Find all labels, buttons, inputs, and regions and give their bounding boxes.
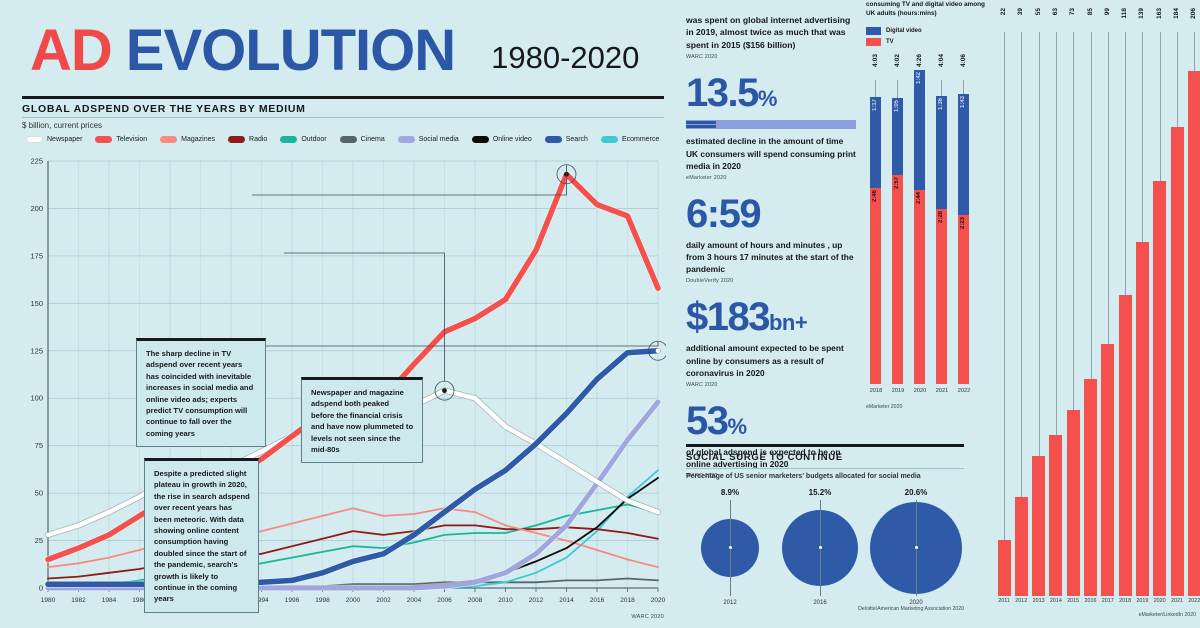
stacked-bar-segment-tv: 2:23 — [958, 215, 969, 384]
legend-item-cinema: Cinema — [340, 136, 385, 143]
y-axis-tick-label: 175 — [30, 251, 43, 260]
bubble-year-label: 2016 — [790, 600, 850, 606]
legend-swatch-icon — [472, 136, 489, 143]
main-line-chart: 0255075100125150175200225198019821984198… — [22, 155, 666, 610]
title-year-range: 1980-2020 — [491, 40, 639, 76]
right-bar-value-label: 73 — [1069, 8, 1076, 15]
right-bar-column: 85 — [1083, 8, 1099, 596]
right-bar-column: 39 — [1013, 8, 1029, 596]
stacked-bar-value-digital-video: 1:17 — [872, 99, 878, 111]
y-axis-tick-label: 100 — [30, 394, 43, 403]
stat-number: 53% — [686, 402, 856, 440]
legend-item-ecommerce: Ecommerce — [601, 136, 659, 143]
stacked-bar-value-tv: 2:23 — [960, 217, 966, 229]
stacked-bar-total-label: 4:03 — [872, 54, 879, 67]
right-bar-x-axis-label: 2022 — [1184, 598, 1200, 604]
right-bar-stem — [1004, 32, 1005, 540]
stacked-bar-value-digital-video: 1:43 — [960, 96, 966, 108]
section-title: GLOBAL ADSPEND OVER THE YEARS BY MEDIUM — [22, 103, 306, 115]
legend-label: Newspaper — [47, 136, 82, 143]
stacked-legend-label: Digital video — [886, 28, 922, 34]
legend-swatch-icon — [228, 136, 245, 143]
right-bar-value-label: 99 — [1104, 8, 1111, 15]
stat-source: WARC 2020 — [686, 382, 856, 388]
right-bar-value-label: 163 — [1156, 8, 1163, 19]
legend-swatch-icon — [160, 136, 177, 143]
stat-source: eMarketer 2020 — [686, 175, 856, 181]
right-bar-stem — [1160, 32, 1161, 181]
y-axis-tick-label: 25 — [35, 536, 43, 545]
right-bar — [1171, 127, 1184, 596]
legend-swatch-icon — [95, 136, 112, 143]
stacked-bar-value-tv: 2:44 — [916, 192, 922, 204]
annotation-dot-newspaper-peak — [442, 388, 447, 393]
section-rule-thin — [22, 117, 664, 118]
stacked-bar-stem — [897, 80, 898, 99]
stacked-x-axis-label: 2019 — [887, 388, 909, 394]
x-axis-tick-label: 2004 — [407, 597, 422, 604]
stacked-x-axis-label: 2020 — [909, 388, 931, 394]
right-bar-chart: 22395563738599118139163184206 2011201220… — [988, 0, 1200, 628]
right-bar — [1101, 344, 1114, 596]
stat-lead-text: was spent on global internet advertising… — [686, 14, 856, 51]
stacked-bar-total-label: 4:02 — [894, 54, 901, 67]
right-bar-stem — [1091, 32, 1092, 379]
stat-source: DoubleVerify 2020 — [686, 278, 856, 284]
x-axis-tick-label: 2002 — [376, 597, 391, 604]
right-bar-plot-area: 22395563738599118139163184206 — [988, 8, 1200, 596]
stat-number-value: 13.5 — [686, 71, 758, 115]
legend-label: Radio — [249, 136, 267, 143]
social-source: Deloitte/American Marketing Association … — [858, 606, 964, 612]
legend-swatch-icon — [601, 136, 618, 143]
bubble-value-label: 8.9% — [700, 488, 760, 497]
bubble-center-dot — [729, 546, 732, 549]
social-surge-section: SOCIAL SURGE TO CONTINUE Percentage of U… — [686, 444, 968, 614]
social-title: SOCIAL SURGE TO CONTINUE — [686, 452, 968, 463]
right-bar-stem — [1073, 32, 1074, 410]
stacked-bar-column: 4:031:172:46 — [870, 54, 881, 384]
right-bar — [1084, 379, 1097, 596]
stat-number-unit: bn+ — [769, 310, 807, 335]
right-bar-value-label: 55 — [1035, 8, 1042, 15]
right-bar-value-label: 184 — [1173, 8, 1180, 19]
stacked-x-axis: 20182019202020212022 — [866, 388, 986, 400]
right-bar — [1015, 497, 1028, 596]
stat-description: estimated decline in the amount of time … — [686, 135, 856, 172]
stat-description: daily amount of hours and minutes , up f… — [686, 239, 856, 276]
stacked-bar-segment-tv: 2:44 — [914, 190, 925, 383]
legend-item-social-media: Social media — [398, 136, 459, 143]
bubble-value-label: 20.6% — [886, 488, 946, 497]
right-bar-column: 118 — [1117, 8, 1133, 596]
stacked-legend-swatch-icon — [866, 27, 881, 35]
right-bar-value-label: 22 — [1000, 8, 1007, 15]
right-bar-value-label: 85 — [1087, 8, 1094, 15]
callout-search-growth: Despite a predicted slight plateau in gr… — [144, 458, 259, 613]
stat-accent-bar — [686, 120, 856, 129]
x-axis-tick-label: 2020 — [651, 597, 666, 604]
stat-number-value: 6:59 — [686, 192, 760, 236]
callout-tv-decline: The sharp decline in TV adspend over rec… — [136, 338, 266, 447]
x-axis-tick-label: 2018 — [620, 597, 635, 604]
stacked-bar-value-tv: 2:46 — [872, 190, 878, 202]
legend-item-outdoor: Outdoor — [280, 136, 326, 143]
y-axis-tick-label: 75 — [35, 441, 43, 450]
x-axis-tick-label: 2000 — [346, 597, 361, 604]
y-axis-tick-label: 125 — [30, 346, 43, 355]
legend-label: Ecommerce — [622, 136, 659, 143]
title-ad: AD — [30, 22, 112, 80]
stacked-bar-segment-digital-video: 1:17 — [870, 97, 881, 188]
stacked-bar-segment-tv: 2:57 — [892, 175, 903, 384]
bubble-chart: 8.9%201215.2%201620.6%2020 — [686, 484, 968, 614]
stat-source: WARC 2020 — [686, 54, 856, 60]
stacked-bar-segment-digital-video: 1:36 — [936, 96, 947, 209]
section-rule-thick — [22, 96, 664, 99]
x-axis-tick-label: 1998 — [315, 597, 330, 604]
x-axis-tick-label: 2006 — [437, 597, 452, 604]
right-bar — [1032, 456, 1045, 596]
stacked-bar-value-digital-video: 1:36 — [938, 98, 944, 110]
bubble-center-dot — [819, 546, 822, 549]
right-bar-stem — [1142, 32, 1143, 242]
legend-item-radio: Radio — [228, 136, 267, 143]
legend-swatch-icon — [545, 136, 562, 143]
right-bar — [1136, 242, 1149, 596]
stacked-x-axis-label: 2022 — [953, 388, 975, 394]
legend-item-online-video: Online video — [472, 136, 532, 143]
y-axis-tick-label: 0 — [39, 584, 43, 593]
stat-number-value: $183 — [686, 295, 769, 339]
stacked-x-axis-label: 2018 — [865, 388, 887, 394]
stacked-bar-segment-digital-video: 1:43 — [958, 94, 969, 215]
right-bar — [1188, 71, 1200, 596]
stat-number: 13.5% — [686, 74, 856, 112]
bubble-year-label: 2012 — [700, 600, 760, 606]
legend-label: Television — [116, 136, 147, 143]
social-rule-thin — [686, 468, 964, 469]
stat-block-print-decline: 13.5%estimated decline in the amount of … — [686, 74, 856, 181]
right-bar — [1049, 435, 1062, 596]
x-axis-tick-label: 1980 — [41, 597, 56, 604]
stacked-bar-stem — [875, 80, 876, 98]
stacked-legend-item-tv: TV — [866, 38, 986, 46]
right-bar-stem — [1021, 32, 1022, 497]
right-bar-column: 184 — [1169, 8, 1185, 596]
legend-swatch-icon — [398, 136, 415, 143]
legend-label: Online video — [493, 136, 532, 143]
stacked-bar-segment-tv: 2:46 — [870, 188, 881, 384]
legend-label: Cinema — [361, 136, 385, 143]
right-bar-stem — [1108, 32, 1109, 344]
right-bar-column: 139 — [1134, 8, 1150, 596]
y-axis-tick-label: 200 — [30, 204, 43, 213]
stat-block-online-spend: $183bn+additional amount expected to be … — [686, 298, 856, 388]
right-bar — [1119, 295, 1132, 596]
stacked-bar-total-label: 4:04 — [938, 54, 945, 67]
stacked-bar-stem — [941, 80, 942, 96]
right-bar-value-label: 63 — [1052, 8, 1059, 15]
stacked-source: eMarketer 2020 — [866, 404, 902, 410]
callout-print-decline: Newspaper and magazine adspend both peak… — [301, 377, 423, 463]
x-axis-tick-label: 1984 — [102, 597, 117, 604]
right-bar-column: 99 — [1100, 8, 1116, 596]
right-bar-value-label: 39 — [1017, 8, 1024, 15]
stat-block-daily-hours: 6:59daily amount of hours and minutes , … — [686, 195, 856, 285]
right-bar-x-axis: 2011201220132014201520162017201820192020… — [988, 598, 1200, 610]
stat-number: 6:59 — [686, 195, 856, 233]
title-evolution: EVOLUTION — [126, 22, 455, 80]
bubble-value-label: 15.2% — [790, 488, 850, 497]
stat-number-unit: % — [728, 414, 747, 439]
legend-swatch-icon — [340, 136, 357, 143]
legend-item-magazines: Magazines — [160, 136, 215, 143]
stacked-legend: Digital videoTV — [866, 27, 986, 46]
right-bar-value-label: 206 — [1190, 8, 1197, 19]
stacked-bar-column: 4:261:422:44 — [914, 54, 925, 384]
x-axis-tick-label: 2012 — [529, 597, 544, 604]
stacked-legend-item-digital-video: Digital video — [866, 27, 986, 35]
x-axis-tick-label: 2010 — [498, 597, 513, 604]
y-axis-tick-label: 150 — [30, 299, 43, 308]
stacked-bar-column: 4:021:052:57 — [892, 54, 903, 384]
stat-block-internet-adspend: was spent on global internet advertising… — [686, 14, 856, 60]
stat-number-value: 53 — [686, 399, 728, 443]
right-bar-column: 206 — [1186, 8, 1200, 596]
stacked-bar-value-digital-video: 1:42 — [916, 72, 922, 84]
right-bar — [998, 540, 1011, 596]
main-chart-source: WARC 2020 — [631, 614, 664, 620]
stacked-bar-segment-digital-video: 1:05 — [892, 98, 903, 175]
stacked-legend-swatch-icon — [866, 38, 881, 46]
x-axis-tick-label: 1982 — [71, 597, 86, 604]
stacked-bar-segment-tv: 2:28 — [936, 209, 947, 383]
stacked-bar-stem — [963, 80, 964, 94]
chart-legend: NewspaperTelevisionMagazinesRadioOutdoor… — [26, 136, 666, 143]
legend-label: Magazines — [181, 136, 215, 143]
stacked-bar-column: 4:041:362:28 — [936, 54, 947, 384]
stacked-bar-total-label: 4:26 — [916, 54, 923, 67]
social-subtitle: Percentage of US senior marketers' budge… — [686, 473, 968, 480]
right-bar-column: 73 — [1065, 8, 1081, 596]
stat-number-unit: % — [758, 86, 777, 111]
section-subtitle: $ billion, current prices — [22, 121, 102, 130]
right-bar-column: 55 — [1031, 8, 1047, 596]
x-axis-tick-label: 2016 — [590, 597, 605, 604]
bubble-center-dot — [915, 546, 918, 549]
legend-swatch-icon — [26, 136, 43, 143]
right-bar-stem — [1125, 32, 1126, 295]
right-bar-column: 163 — [1152, 8, 1168, 596]
page-title: AD EVOLUTION 1980-2020 — [30, 22, 639, 80]
stacked-x-axis-label: 2021 — [931, 388, 953, 394]
annotation-dot-search-2020 — [656, 348, 661, 353]
stat-description: additional amount expected to be spent o… — [686, 342, 856, 379]
right-bar-stem — [1039, 32, 1040, 456]
right-bar — [1153, 181, 1166, 596]
legend-label: Social media — [419, 136, 459, 143]
annotation-connector-tv — [252, 165, 567, 195]
legend-label: Outdoor — [301, 136, 326, 143]
right-bar — [1067, 410, 1080, 596]
legend-item-newspaper: Newspaper — [26, 136, 82, 143]
right-bar-column: 22 — [996, 8, 1012, 596]
legend-label: Search — [566, 136, 588, 143]
stacked-legend-label: TV — [886, 39, 894, 45]
right-bar-value-label: 118 — [1121, 8, 1128, 19]
x-axis-tick-label: 1996 — [285, 597, 300, 604]
legend-swatch-icon — [280, 136, 297, 143]
legend-item-search: Search — [545, 136, 588, 143]
right-bar-stem — [1177, 32, 1178, 127]
y-axis-tick-label: 50 — [35, 489, 43, 498]
y-axis-tick-label: 225 — [30, 157, 43, 166]
right-bar-stem — [1194, 32, 1195, 71]
stacked-bar-segment-digital-video: 1:42 — [914, 70, 925, 190]
stacked-bar-value-tv: 2:57 — [894, 177, 900, 189]
stat-number: $183bn+ — [686, 298, 856, 336]
infographic-page: AD EVOLUTION 1980-2020 GLOBAL ADSPEND OV… — [0, 0, 1200, 628]
social-rule-thick — [686, 444, 964, 447]
legend-item-television: Television — [95, 136, 147, 143]
stacked-bar-total-label: 4:06 — [960, 54, 967, 67]
right-bar-value-label: 139 — [1138, 8, 1145, 19]
stacked-bar-chart: consuming TV and digital video among UK … — [866, 0, 986, 430]
x-axis-tick-label: 2014 — [559, 597, 574, 604]
stacked-bar-value-digital-video: 1:05 — [894, 100, 900, 112]
stacked-heading: consuming TV and digital video among UK … — [866, 0, 986, 19]
left-panel: AD EVOLUTION 1980-2020 GLOBAL ADSPEND OV… — [0, 0, 678, 628]
x-axis-tick-label: 2008 — [468, 597, 483, 604]
stacked-bar-column: 4:061:432:23 — [958, 54, 969, 384]
right-bar-column: 63 — [1048, 8, 1064, 596]
stacked-bar-value-tv: 2:28 — [938, 211, 944, 223]
stats-column: was spent on global internet advertising… — [686, 0, 856, 479]
right-bar-source: eMarketer/LinkedIn 2020 — [1139, 612, 1196, 618]
right-bar-stem — [1056, 32, 1057, 435]
stacked-plot-area: 4:031:172:464:021:052:574:261:422:444:04… — [866, 54, 986, 384]
